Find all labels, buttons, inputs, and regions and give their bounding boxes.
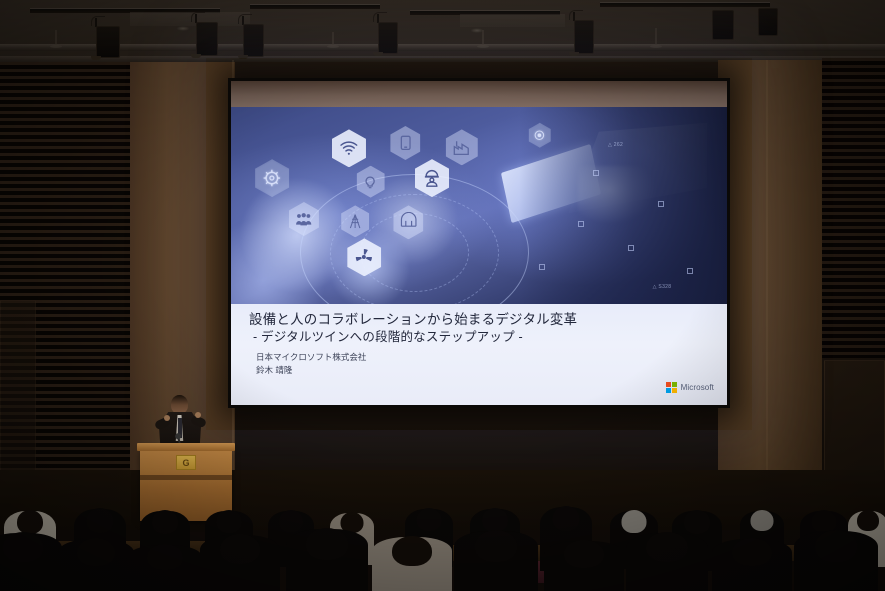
spotlight-body: [96, 26, 120, 58]
presenter-head: [171, 395, 188, 414]
ceiling-air-slot: [250, 4, 380, 9]
ceiling-air-slot: [600, 2, 770, 7]
hud-square-icon: [578, 221, 584, 227]
gear-tools-icon: [255, 159, 289, 197]
hud-square-icon: [628, 245, 634, 251]
ceiling-hanger: [332, 32, 334, 46]
microsoft-squares-icon: [666, 382, 677, 393]
worker-icon: [415, 159, 449, 197]
spotlight-cable: [569, 10, 583, 20]
slide-title-line-1: 設備と人のコラボレーションから始まるデジタル変革: [249, 311, 713, 329]
spotlight-lens: [373, 52, 383, 56]
people-icon: [289, 202, 319, 236]
audience-member: [372, 537, 452, 591]
spotlight-cable: [238, 14, 252, 24]
slide-title-line-2: - デジタルツインへの段階的なステップアップ -: [249, 329, 713, 346]
slide-photo: △ 262 △ S328: [231, 107, 727, 304]
hud-label: △ S328: [653, 284, 672, 290]
ceiling-hanger: [55, 30, 57, 46]
ceiling-hanger: [482, 30, 484, 46]
audience-member: [454, 531, 538, 591]
wall-seam: [766, 60, 768, 510]
recessed-light-icon: [176, 26, 190, 31]
slide-text-block: 設備と人のコラボレーションから始まるデジタル変革 - デジタルツインへの段階的な…: [231, 304, 727, 405]
hud-square-icon: [593, 170, 599, 176]
hud-square-icon: [658, 201, 664, 207]
wall-panel-right: [718, 60, 822, 510]
lightbulb-icon: [357, 166, 385, 198]
wifi-icon: [332, 129, 366, 167]
audience-member: [200, 535, 280, 591]
audience: [0, 471, 885, 591]
factory-icon: [446, 129, 478, 165]
spotlight-body: [574, 20, 594, 54]
spotlight-lens: [238, 55, 248, 59]
ceiling-vent: [460, 14, 565, 27]
slide-presenter-name: 鈴木 靖隆: [256, 364, 713, 377]
hex-icon-cluster: [246, 123, 554, 288]
audience-member: [128, 545, 202, 591]
presenter-hand-left: [164, 415, 170, 421]
louvered-wall-right: [822, 58, 885, 358]
conference-hall-photo: △ 262 △ S328: [0, 0, 885, 591]
lighting-truss: [0, 44, 885, 51]
target-icon: [529, 123, 551, 148]
slide-org: 日本マイクロソフト株式会社: [256, 351, 713, 364]
spotlight-body: [196, 22, 218, 56]
audience-member: [626, 533, 708, 591]
presenter-hand-right: [195, 412, 201, 418]
ceiling-hanger: [655, 28, 657, 46]
spotlight-body: [243, 24, 264, 57]
spotlight-lens: [191, 54, 201, 58]
spotlight-lens: [91, 56, 101, 60]
bridge-icon: [393, 205, 423, 239]
hud-square-icon: [687, 268, 693, 274]
spotlight-lens: [569, 52, 579, 56]
microsoft-logo: Microsoft: [666, 382, 714, 393]
radiation-icon: [347, 238, 381, 276]
audience-member: [712, 539, 792, 591]
presentation-slide: △ 262 △ S328: [231, 107, 727, 405]
pylon-icon: [341, 205, 369, 237]
spotlight-body: [758, 8, 778, 36]
spotlight-cable: [91, 16, 105, 26]
audience-member: [58, 539, 134, 591]
spotlight-cable: [373, 12, 387, 22]
screen-unlit-band: [231, 81, 727, 107]
audience-member: [544, 541, 624, 591]
audience-member: [794, 531, 878, 591]
microsoft-wordmark: Microsoft: [681, 383, 714, 392]
podium-top: [137, 443, 235, 451]
spotlight-body: [378, 22, 398, 54]
audience-member: [0, 533, 62, 591]
podium-emblem: G: [176, 455, 196, 470]
spotlight-cable: [191, 12, 205, 22]
projection-screen: △ 262 △ S328: [231, 81, 727, 405]
spotlight-body: [712, 10, 734, 40]
tablet-icon: [390, 126, 420, 160]
hud-label: △ 262: [608, 142, 623, 148]
audience-member: [286, 529, 368, 591]
ceiling-vent: [130, 12, 250, 26]
